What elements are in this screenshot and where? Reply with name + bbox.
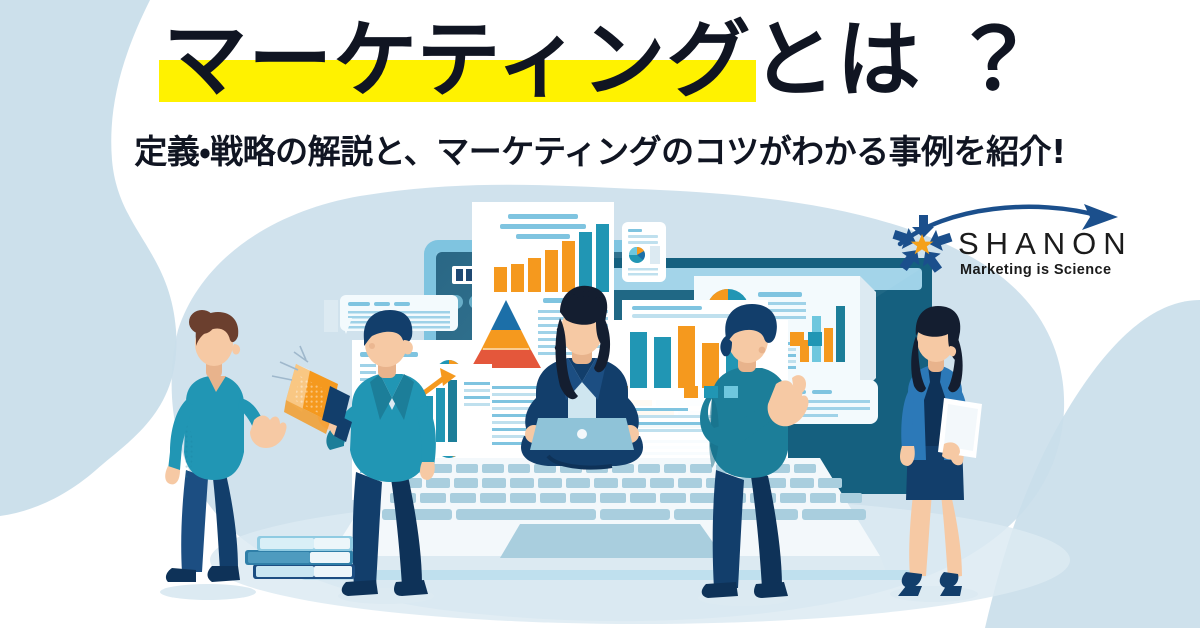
accent-swatches (684, 386, 738, 398)
hair-bun (189, 310, 215, 334)
logo-tagline: Marketing is Science (960, 262, 1111, 278)
book-stack-icon (245, 536, 355, 579)
hero-banner: マーケティングとは ？ 定義・戦略の解説と、マーケティングのコツがわかる事例を紹… (0, 0, 1200, 628)
illustration-scene (0, 0, 1200, 628)
logo-wordmark: SHANON (958, 226, 1133, 262)
shanon-logo[interactable]: SHANON Marketing is Science (886, 200, 1132, 288)
laptop-trackpad (500, 524, 724, 558)
card-small-pie (622, 222, 666, 282)
chart-small-card-pie (629, 247, 645, 263)
card-far-left (324, 300, 338, 332)
